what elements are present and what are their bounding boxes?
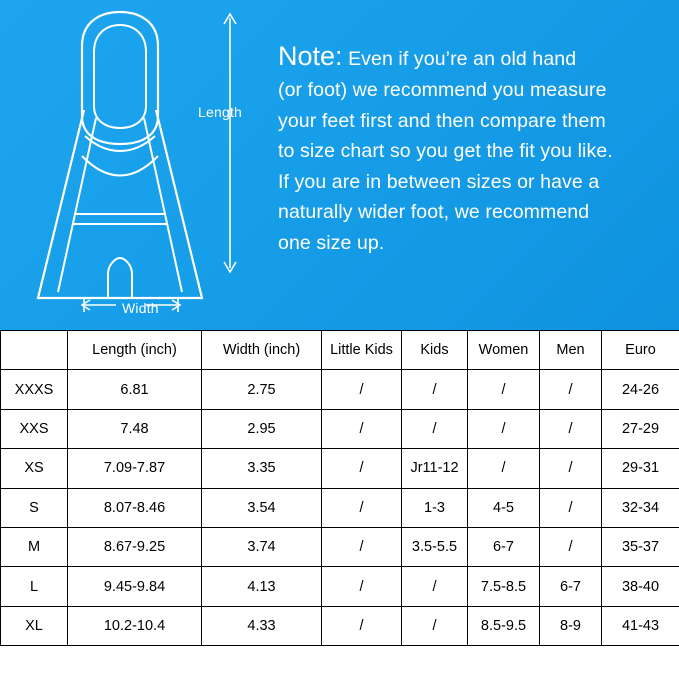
table-cell-kids: / [402, 409, 468, 448]
table-cell-length: 9.45-9.84 [68, 567, 202, 606]
table-cell-size: XXXS [1, 370, 68, 409]
size-chart-page: Length Width Note: Even if you’re an old… [0, 0, 679, 679]
table-cell-little-kids: / [322, 527, 402, 566]
table-cell-length: 7.48 [68, 409, 202, 448]
table-cell-kids: Jr11-12 [402, 449, 468, 488]
table-cell-women: / [468, 370, 540, 409]
note-label: Note: [278, 41, 343, 71]
table-row: XXS 7.48 2.95 / / / / 27-29 [1, 409, 679, 448]
table-cell-little-kids: / [322, 409, 402, 448]
table-cell-size: XXS [1, 409, 68, 448]
table-cell-length: 7.09-7.87 [68, 449, 202, 488]
info-panel: Length Width Note: Even if you’re an old… [0, 0, 679, 330]
table-cell-length: 6.81 [68, 370, 202, 409]
swim-fin-illustration: Length Width [22, 6, 272, 324]
table-cell-euro: 24-26 [602, 370, 679, 409]
table-cell-length: 10.2-10.4 [68, 606, 202, 645]
table-cell-little-kids: / [322, 449, 402, 488]
table-header-cell: Men [540, 331, 602, 370]
table-cell-euro: 27-29 [602, 409, 679, 448]
table-cell-width: 4.13 [202, 567, 322, 606]
table-cell-length: 8.67-9.25 [68, 527, 202, 566]
table-cell-kids: / [402, 567, 468, 606]
table-cell-width: 3.35 [202, 449, 322, 488]
note-line-7: one size up. [278, 228, 658, 259]
table-cell-women: / [468, 449, 540, 488]
note-line-4: to size chart so you get the fit you lik… [278, 136, 658, 167]
table-cell-length: 8.07-8.46 [68, 488, 202, 527]
width-dimension-label: Width [122, 300, 159, 316]
table-cell-euro: 38-40 [602, 567, 679, 606]
table-cell-women: 4-5 [468, 488, 540, 527]
table-cell-men: / [540, 409, 602, 448]
table-cell-size: L [1, 567, 68, 606]
table-cell-men: / [540, 488, 602, 527]
note-text-block: Note: Even if you’re an old hand (or foo… [278, 40, 658, 258]
table-row: XL 10.2-10.4 4.33 / / 8.5-9.5 8-9 41-43 [1, 606, 679, 645]
table-cell-men: 8-9 [540, 606, 602, 645]
table-cell-width: 4.33 [202, 606, 322, 645]
table-row: L 9.45-9.84 4.13 / / 7.5-8.5 6-7 38-40 [1, 567, 679, 606]
note-line-6: naturally wider foot, we recommend [278, 197, 658, 228]
table-cell-men: / [540, 527, 602, 566]
table-cell-little-kids: / [322, 370, 402, 409]
note-line-text-1: Even if you’re an old hand [343, 48, 577, 70]
table-row: XS 7.09-7.87 3.35 / Jr11-12 / / 29-31 [1, 449, 679, 488]
table-cell-little-kids: / [322, 488, 402, 527]
table-cell-kids: / [402, 606, 468, 645]
table-cell-women: 7.5-8.5 [468, 567, 540, 606]
table-header-cell: Width (inch) [202, 331, 322, 370]
table-cell-size: XL [1, 606, 68, 645]
table-header-cell: Little Kids [322, 331, 402, 370]
table-header-cell [1, 331, 68, 370]
table-cell-little-kids: / [322, 606, 402, 645]
table-header-cell: Women [468, 331, 540, 370]
table-cell-little-kids: / [322, 567, 402, 606]
table-cell-kids: 3.5-5.5 [402, 527, 468, 566]
table-header-cell: Length (inch) [68, 331, 202, 370]
note-line-1: Note: Even if you’re an old hand [278, 40, 658, 75]
table-cell-men: 6-7 [540, 567, 602, 606]
table-cell-size: XS [1, 449, 68, 488]
table-header-cell: Kids [402, 331, 468, 370]
table-cell-women: / [468, 409, 540, 448]
table-cell-size: S [1, 488, 68, 527]
table-row: S 8.07-8.46 3.54 / 1-3 4-5 / 32-34 [1, 488, 679, 527]
size-chart-table: Length (inch) Width (inch) Little Kids K… [0, 330, 679, 646]
table-cell-width: 3.54 [202, 488, 322, 527]
table-cell-euro: 29-31 [602, 449, 679, 488]
table-cell-kids: / [402, 370, 468, 409]
table-cell-euro: 32-34 [602, 488, 679, 527]
table-header-row: Length (inch) Width (inch) Little Kids K… [1, 331, 679, 370]
table-row: XXXS 6.81 2.75 / / / / 24-26 [1, 370, 679, 409]
table-cell-euro: 41-43 [602, 606, 679, 645]
note-line-3: your feet first and then compare them [278, 106, 658, 137]
note-line-5: If you are in between sizes or have a [278, 167, 658, 198]
table-cell-euro: 35-37 [602, 527, 679, 566]
table-cell-width: 2.75 [202, 370, 322, 409]
note-line-2: (or foot) we recommend you measure [278, 75, 658, 106]
table-cell-men: / [540, 449, 602, 488]
table-cell-width: 2.95 [202, 409, 322, 448]
table-row: M 8.67-9.25 3.74 / 3.5-5.5 6-7 / 35-37 [1, 527, 679, 566]
table-cell-kids: 1-3 [402, 488, 468, 527]
length-dimension-label: Length [198, 104, 242, 120]
table-cell-width: 3.74 [202, 527, 322, 566]
table-cell-men: / [540, 370, 602, 409]
table-cell-women: 8.5-9.5 [468, 606, 540, 645]
table-cell-size: M [1, 527, 68, 566]
table-cell-women: 6-7 [468, 527, 540, 566]
table-header-cell: Euro [602, 331, 679, 370]
